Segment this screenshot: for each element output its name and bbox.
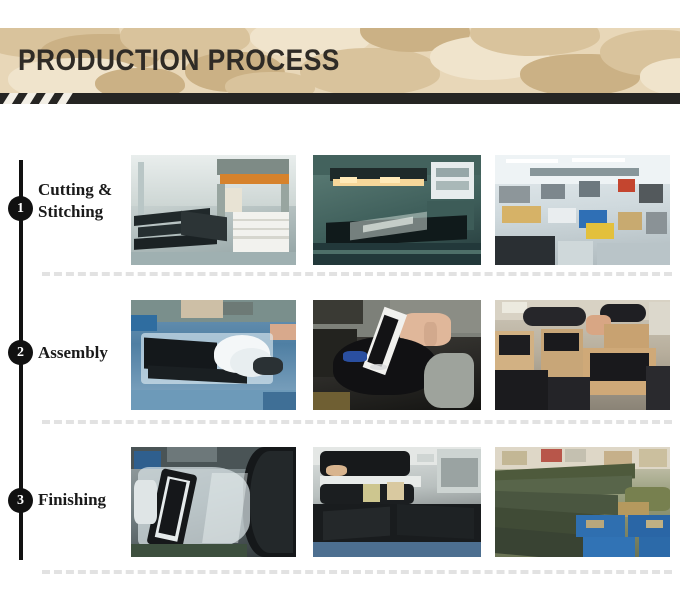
step-number-badge-1: 1	[8, 196, 33, 221]
header-banner: PRODUCTION PROCESS	[0, 28, 680, 108]
step-2-image-1[interactable]	[131, 300, 296, 410]
row-divider	[42, 570, 672, 574]
banner-title-bar: PRODUCTION PROCESS	[0, 28, 680, 93]
step-label-2: Assembly	[38, 342, 130, 364]
step-1-image-2[interactable]	[313, 155, 481, 265]
step-1-image-3[interactable]	[495, 155, 670, 265]
step-2-image-2[interactable]	[313, 300, 481, 410]
step-3-image-2[interactable]	[313, 447, 481, 557]
row-divider	[42, 420, 672, 424]
process-step-row: 1 Cutting & Stitching	[0, 155, 680, 265]
step-label-3: Finishing	[38, 489, 130, 511]
page-title: PRODUCTION PROCESS	[18, 44, 340, 78]
step-label-1: Cutting & Stitching	[38, 179, 130, 223]
step-1-image-1[interactable]	[131, 155, 296, 265]
step-1-images	[131, 155, 677, 265]
banner-accent-strip	[0, 93, 680, 104]
step-3-image-1[interactable]	[131, 447, 296, 557]
step-number-badge-3: 3	[8, 488, 33, 513]
step-3-image-3[interactable]	[495, 447, 670, 557]
step-2-image-3[interactable]	[495, 300, 670, 410]
step-2-images	[131, 300, 677, 410]
process-step-row: 3 Finishing	[0, 447, 680, 557]
step-3-images	[131, 447, 677, 557]
process-step-row: 2 Assembly	[0, 300, 680, 410]
row-divider	[42, 272, 672, 276]
step-number-badge-2: 2	[8, 340, 33, 365]
